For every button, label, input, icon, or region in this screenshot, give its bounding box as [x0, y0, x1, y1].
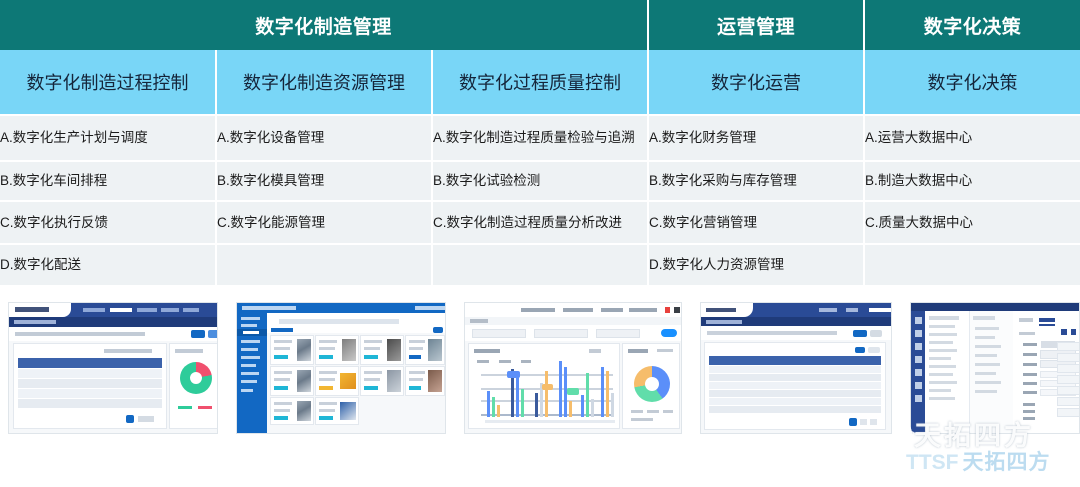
screenshot-strip: 天拓四方 TTSF天拓四方 — [0, 287, 1080, 478]
screenshot-cell-quality — [456, 287, 692, 478]
table-row: B.数字化车间排程 B.数字化模具管理 B.数字化试验检测 B.数字化采购与库存… — [0, 161, 1080, 201]
group-header-row: 数字化制造管理 运营管理 数字化决策 — [0, 0, 1080, 50]
sub-header-digital-decision: 数字化决策 — [864, 50, 1080, 115]
screenshot-cell-equipment — [228, 287, 456, 478]
watermark-brand-latin: TTSF — [906, 451, 959, 474]
group-header-manufacturing: 数字化制造管理 — [0, 0, 648, 50]
table-row: C.数字化执行反馈 C.数字化能源管理 C.数字化制造过程质量分析改进 C.数字… — [0, 201, 1080, 244]
screenshot-decision-form-console — [911, 303, 1079, 433]
sub-header-quality-control: 数字化过程质量控制 — [432, 50, 648, 115]
screenshot-production-plan-dashboard — [9, 303, 217, 433]
screenshot-quality-analytics-dashboard — [465, 303, 681, 433]
sub-header-process-control: 数字化制造过程控制 — [0, 50, 216, 115]
cell-a-2: A.数字化设备管理 — [216, 115, 432, 161]
sub-header-digital-operations: 数字化运营 — [648, 50, 864, 115]
cell-b-1: B.数字化车间排程 — [0, 161, 216, 201]
cell-c-4: C.数字化营销管理 — [648, 201, 864, 244]
cell-c-5: C.质量大数据中心 — [864, 201, 1080, 244]
screenshot-cell-operations — [692, 287, 902, 478]
cell-c-3: C.数字化制造过程质量分析改进 — [432, 201, 648, 244]
table-row: D.数字化配送 D.数字化人力资源管理 — [0, 244, 1080, 286]
cell-c-1: C.数字化执行反馈 — [0, 201, 216, 244]
cell-d-1: D.数字化配送 — [0, 244, 216, 286]
cell-d-2 — [216, 244, 432, 286]
capability-matrix-table: 数字化制造管理 运营管理 数字化决策 数字化制造过程控制 数字化制造资源管理 数… — [0, 0, 1080, 287]
group-header-operations: 运营管理 — [648, 0, 864, 50]
sub-header-resource-management: 数字化制造资源管理 — [216, 50, 432, 115]
screenshot-operations-data-table — [701, 303, 891, 433]
cell-a-4: A.数字化财务管理 — [648, 115, 864, 161]
cell-b-5: B.制造大数据中心 — [864, 161, 1080, 201]
group-header-decision: 数字化决策 — [864, 0, 1080, 50]
donut-chart-plan-status — [180, 362, 212, 394]
watermark-brand-lockup: TTSF天拓四方 — [906, 446, 1051, 476]
cell-b-3: B.数字化试验检测 — [432, 161, 648, 201]
cell-a-1: A.数字化生产计划与调度 — [0, 115, 216, 161]
watermark-brand-lockup-cn: 天拓四方 — [963, 451, 1051, 474]
cell-a-5: A.运营大数据中心 — [864, 115, 1080, 161]
cell-b-4: B.数字化采购与库存管理 — [648, 161, 864, 201]
table-row: A.数字化生产计划与调度 A.数字化设备管理 A.数字化制造过程质量检验与追溯 … — [0, 115, 1080, 161]
screenshot-cell-decision: 天拓四方 TTSF天拓四方 — [902, 287, 1080, 478]
cell-d-3 — [432, 244, 648, 286]
screenshot-cell-production-plan — [0, 287, 228, 478]
cell-d-5 — [864, 244, 1080, 286]
cell-a-3: A.数字化制造过程质量检验与追溯 — [432, 115, 648, 161]
cell-b-2: B.数字化模具管理 — [216, 161, 432, 201]
donut-chart-quality-distribution — [634, 366, 670, 402]
cell-d-4: D.数字化人力资源管理 — [648, 244, 864, 286]
screenshot-equipment-card-grid — [237, 303, 445, 433]
sub-header-row: 数字化制造过程控制 数字化制造资源管理 数字化过程质量控制 数字化运营 数字化决… — [0, 50, 1080, 115]
cell-c-2: C.数字化能源管理 — [216, 201, 432, 244]
